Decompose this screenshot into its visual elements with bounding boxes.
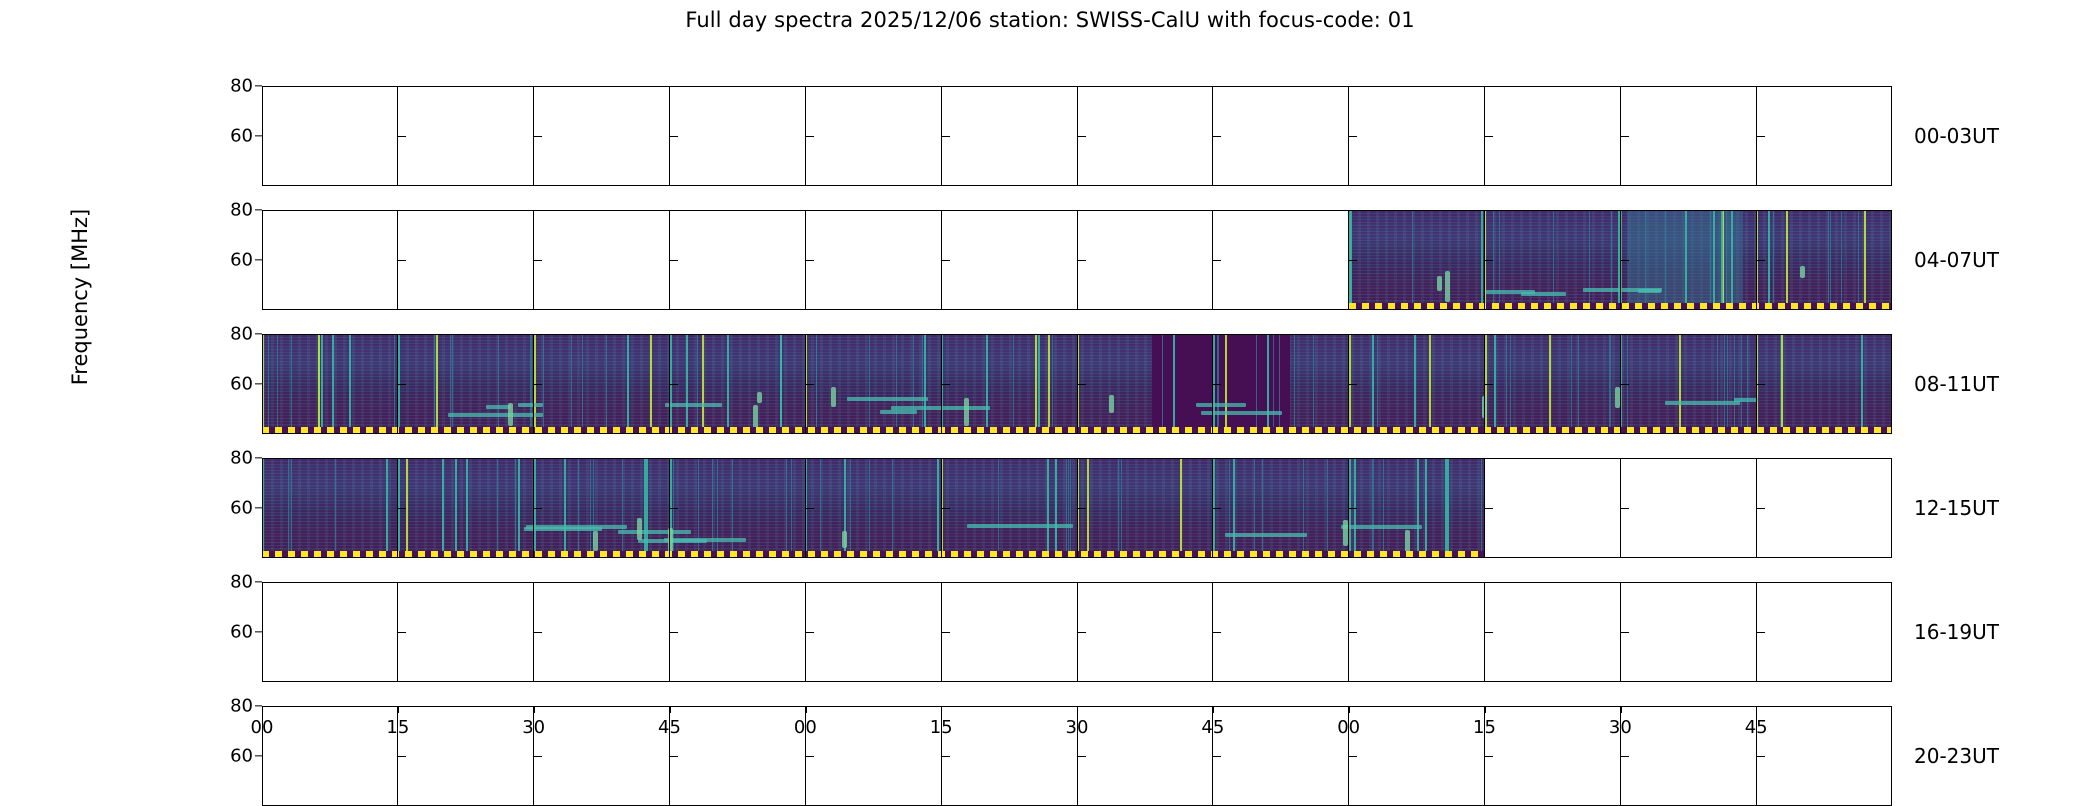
quarter-hour-panel — [1756, 706, 1892, 806]
y-tick-mark — [255, 581, 262, 582]
quarter-hour-panel — [1620, 706, 1756, 806]
quarter-hour-panel — [1484, 582, 1620, 682]
inner-tick-mark — [669, 508, 678, 509]
y-tick-mark — [255, 755, 262, 756]
quarter-hour-panel — [1484, 86, 1620, 186]
inner-tick-mark — [1212, 756, 1221, 757]
quarter-hour-panel — [262, 458, 397, 558]
quarter-hour-panel — [1756, 582, 1892, 682]
spectrogram-row: 8060 — [262, 334, 1892, 434]
quarter-hour-panel — [397, 86, 533, 186]
inner-tick-mark — [533, 632, 542, 633]
quarter-hour-panel — [1077, 706, 1213, 806]
inner-tick-mark — [1484, 384, 1493, 385]
quarter-hour-panel — [1077, 210, 1213, 310]
y-tick-mark — [255, 507, 262, 508]
inner-tick-mark — [533, 508, 542, 509]
quarter-hour-panel — [941, 334, 1077, 434]
y-tick-mark — [255, 209, 262, 210]
row-time-label: 08-11UT — [1914, 372, 1999, 396]
quarter-hour-panel — [1484, 334, 1620, 434]
quarter-hour-panel — [533, 86, 669, 186]
row-time-label: 12-15UT — [1914, 496, 1999, 520]
y-tick-mark — [255, 457, 262, 458]
inner-tick-mark — [397, 632, 406, 633]
inner-tick-mark — [669, 260, 678, 261]
inner-tick-mark — [1620, 384, 1629, 385]
quarter-hour-panel — [1348, 706, 1484, 806]
spectrogram-figure: Full day spectra 2025/12/06 station: SWI… — [0, 0, 2100, 800]
inner-tick-mark — [669, 632, 678, 633]
inner-tick-mark — [805, 508, 814, 509]
inner-tick-mark — [1077, 756, 1086, 757]
row-time-label: 16-19UT — [1914, 620, 1999, 644]
quarter-hour-panel — [669, 210, 805, 310]
quarter-hour-panel — [941, 210, 1077, 310]
inner-tick-mark — [805, 756, 814, 757]
inner-tick-mark — [1212, 260, 1221, 261]
quarter-hour-panel — [1348, 86, 1484, 186]
inner-tick-mark — [1484, 756, 1493, 757]
inner-tick-mark — [397, 384, 406, 385]
y-tick-label: 80 — [230, 696, 253, 717]
quarter-hour-panel — [1484, 458, 1620, 558]
panel-separators — [262, 210, 1892, 310]
quarter-hour-panel — [1077, 458, 1213, 558]
quarter-hour-panel — [1348, 210, 1484, 310]
inner-tick-mark — [1348, 136, 1357, 137]
inner-tick-mark — [1212, 508, 1221, 509]
inner-tick-mark — [1756, 508, 1765, 509]
inner-tick-mark — [1212, 136, 1221, 137]
inner-tick-mark — [1348, 508, 1357, 509]
quarter-hour-panel — [1348, 582, 1484, 682]
inner-tick-mark — [1484, 632, 1493, 633]
quarter-hour-panel — [1620, 334, 1756, 434]
quarter-hour-panel — [397, 334, 533, 434]
inner-tick-mark — [941, 136, 950, 137]
quarter-hour-panel — [262, 582, 397, 682]
inner-tick-mark — [1756, 384, 1765, 385]
inner-tick-mark — [1620, 756, 1629, 757]
quarter-hour-panel — [1212, 334, 1348, 434]
quarter-hour-panel — [1212, 582, 1348, 682]
quarter-hour-panel — [262, 210, 397, 310]
inner-tick-mark — [941, 508, 950, 509]
y-tick-label: 60 — [230, 126, 253, 147]
quarter-hour-panel — [1348, 334, 1484, 434]
y-tick-label: 80 — [230, 76, 253, 97]
quarter-hour-panel — [1620, 210, 1756, 310]
quarter-hour-panel — [1756, 458, 1892, 558]
quarter-hour-panel — [669, 334, 805, 434]
panel-separators — [262, 458, 1892, 558]
spectrogram-row: 8060 — [262, 706, 1892, 806]
quarter-hour-panel — [1484, 706, 1620, 806]
y-tick-mark — [255, 135, 262, 136]
inner-tick-mark — [805, 136, 814, 137]
quarter-hour-panel — [805, 86, 941, 186]
inner-tick-mark — [1212, 632, 1221, 633]
panel-separators — [262, 334, 1892, 434]
row-time-label: 00-03UT — [1914, 124, 1999, 148]
y-tick-mark — [255, 631, 262, 632]
spectrogram-row: 8060 — [262, 210, 1892, 310]
quarter-hour-panel — [1348, 458, 1484, 558]
quarter-hour-panel — [1212, 458, 1348, 558]
inner-tick-mark — [941, 632, 950, 633]
inner-tick-mark — [397, 508, 406, 509]
inner-tick-mark — [397, 756, 406, 757]
quarter-hour-panel — [262, 706, 397, 806]
quarter-hour-panel — [1756, 86, 1892, 186]
y-tick-label: 60 — [230, 250, 253, 271]
panel-separators — [262, 582, 1892, 682]
row-time-label: 20-23UT — [1914, 744, 1999, 768]
inner-tick-mark — [533, 260, 542, 261]
quarter-hour-panel — [805, 582, 941, 682]
quarter-hour-panel — [1077, 86, 1213, 186]
y-tick-mark — [255, 259, 262, 260]
spectrogram-row: 8060 — [262, 86, 1892, 186]
spectrogram-row: 8060 — [262, 458, 1892, 558]
quarter-hour-panel — [1212, 706, 1348, 806]
inner-tick-mark — [1348, 756, 1357, 757]
inner-tick-mark — [1077, 136, 1086, 137]
quarter-hour-panel — [397, 458, 533, 558]
y-tick-label: 80 — [230, 200, 253, 221]
quarter-hour-panel — [805, 334, 941, 434]
inner-tick-mark — [805, 260, 814, 261]
y-tick-label: 60 — [230, 746, 253, 767]
figure-title: Full day spectra 2025/12/06 station: SWI… — [0, 8, 2100, 32]
inner-tick-mark — [1484, 508, 1493, 509]
quarter-hour-panel — [397, 210, 533, 310]
quarter-hour-panel — [1620, 86, 1756, 186]
quarter-hour-panel — [805, 458, 941, 558]
quarter-hour-panel — [941, 706, 1077, 806]
y-axis-label: Frequency [MHz] — [68, 137, 92, 457]
spectrogram-row: 8060 — [262, 582, 1892, 682]
inner-tick-mark — [1620, 632, 1629, 633]
inner-tick-mark — [1077, 632, 1086, 633]
quarter-hour-panel — [533, 582, 669, 682]
quarter-hour-panel — [533, 458, 669, 558]
quarter-hour-panel — [1620, 458, 1756, 558]
quarter-hour-panel — [805, 210, 941, 310]
quarter-hour-panel — [262, 334, 397, 434]
inner-tick-mark — [669, 384, 678, 385]
quarter-hour-panel — [805, 706, 941, 806]
quarter-hour-panel — [1756, 334, 1892, 434]
inner-tick-mark — [1484, 260, 1493, 261]
inner-tick-mark — [941, 756, 950, 757]
inner-tick-mark — [1756, 756, 1765, 757]
inner-tick-mark — [1620, 136, 1629, 137]
y-tick-label: 60 — [230, 498, 253, 519]
quarter-hour-panel — [941, 458, 1077, 558]
inner-tick-mark — [1620, 260, 1629, 261]
quarter-hour-panel — [262, 86, 397, 186]
quarter-hour-panel — [669, 86, 805, 186]
quarter-hour-panel — [669, 458, 805, 558]
quarter-hour-panel — [941, 86, 1077, 186]
y-tick-mark — [255, 85, 262, 86]
y-tick-label: 80 — [230, 572, 253, 593]
inner-tick-mark — [941, 260, 950, 261]
inner-tick-mark — [1212, 384, 1221, 385]
quarter-hour-panel — [397, 582, 533, 682]
inner-tick-mark — [1348, 260, 1357, 261]
quarter-hour-panel — [1077, 334, 1213, 434]
panel-separators — [262, 706, 1892, 806]
inner-tick-mark — [397, 136, 406, 137]
quarter-hour-panel — [397, 706, 533, 806]
y-tick-mark — [255, 383, 262, 384]
quarter-hour-panel — [533, 706, 669, 806]
plot-area: 806080608060806080608060 — [262, 86, 1892, 706]
inner-tick-mark — [1077, 260, 1086, 261]
inner-tick-mark — [397, 260, 406, 261]
inner-tick-mark — [1756, 260, 1765, 261]
quarter-hour-panel — [1620, 582, 1756, 682]
inner-tick-mark — [1077, 508, 1086, 509]
quarter-hour-panel — [533, 210, 669, 310]
quarter-hour-panel — [669, 706, 805, 806]
inner-tick-mark — [1348, 384, 1357, 385]
inner-tick-mark — [1484, 136, 1493, 137]
inner-tick-mark — [805, 384, 814, 385]
inner-tick-mark — [533, 136, 542, 137]
y-tick-mark — [255, 705, 262, 706]
quarter-hour-panel — [1077, 582, 1213, 682]
quarter-hour-panel — [1212, 210, 1348, 310]
quarter-hour-panel — [1484, 210, 1620, 310]
panel-separators — [262, 86, 1892, 186]
inner-tick-mark — [1756, 136, 1765, 137]
quarter-hour-panel — [669, 582, 805, 682]
inner-tick-mark — [805, 632, 814, 633]
y-tick-label: 60 — [230, 374, 253, 395]
inner-tick-mark — [1756, 632, 1765, 633]
inner-tick-mark — [941, 384, 950, 385]
inner-tick-mark — [533, 384, 542, 385]
y-tick-mark — [255, 333, 262, 334]
quarter-hour-panel — [941, 582, 1077, 682]
row-time-label: 04-07UT — [1914, 248, 1999, 272]
inner-tick-mark — [669, 136, 678, 137]
y-tick-label: 60 — [230, 622, 253, 643]
inner-tick-mark — [669, 756, 678, 757]
quarter-hour-panel — [1212, 86, 1348, 186]
y-tick-label: 80 — [230, 448, 253, 469]
inner-tick-mark — [1348, 632, 1357, 633]
quarter-hour-panel — [1756, 210, 1892, 310]
inner-tick-mark — [533, 756, 542, 757]
inner-tick-mark — [1077, 384, 1086, 385]
y-tick-label: 80 — [230, 324, 253, 345]
inner-tick-mark — [1620, 508, 1629, 509]
quarter-hour-panel — [533, 334, 669, 434]
